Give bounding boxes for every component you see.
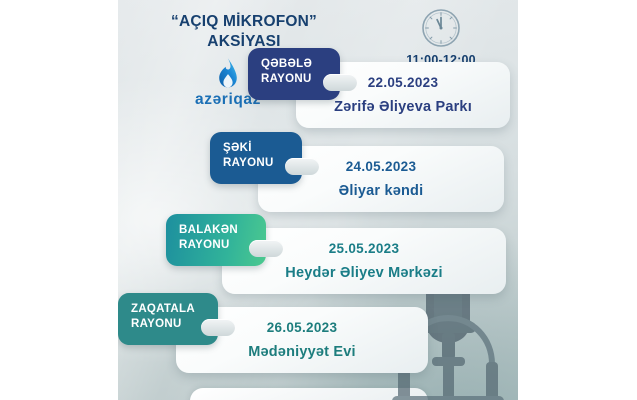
district-badge: ŞƏKİRAYONU <box>210 132 302 184</box>
event-venue: Əliyar kəndi <box>258 183 504 199</box>
poster-frame: “AÇIQ MİKROFON” AKSİYASI azəriqaz <box>0 0 637 400</box>
event-venue: Mədəniyyət Evi <box>176 344 428 360</box>
district-suffix: RAYONU <box>179 238 253 253</box>
connector-notch <box>201 319 235 336</box>
connector-notch <box>249 240 283 257</box>
schedule-row: 22.05.2023Zərifə Əliyeva ParkıQƏBƏLƏRAYO… <box>118 36 518 128</box>
district-suffix: RAYONU <box>223 156 289 171</box>
connector-notch <box>285 158 319 175</box>
connector-notch <box>323 74 357 91</box>
district-badge: QƏBƏLƏRAYONU <box>248 48 340 100</box>
district-name: QƏBƏLƏ <box>261 58 312 70</box>
district-name: ŞƏKİ <box>223 142 252 154</box>
event-venue: Heydər Əliyev Mərkəzi <box>222 265 506 281</box>
schedule-row: 24.05.2023Əliyar kəndiŞƏKİRAYONU <box>118 120 518 212</box>
district-name: BALAKƏN <box>179 224 238 236</box>
event-venue: Zərifə Əliyeva Parkı <box>296 99 510 115</box>
poster-artwork: “AÇIQ MİKROFON” AKSİYASI azəriqaz <box>118 0 518 400</box>
district-badge: ZAQATALARAYONU <box>118 293 218 345</box>
district-suffix: RAYONU <box>261 72 327 87</box>
district-name: ZAQATALA <box>131 303 195 315</box>
headline-line-1: “AÇIQ MİKROFON” <box>171 13 317 30</box>
district-badge: BALAKƏNRAYONU <box>166 214 266 266</box>
district-suffix: RAYONU <box>131 317 205 332</box>
